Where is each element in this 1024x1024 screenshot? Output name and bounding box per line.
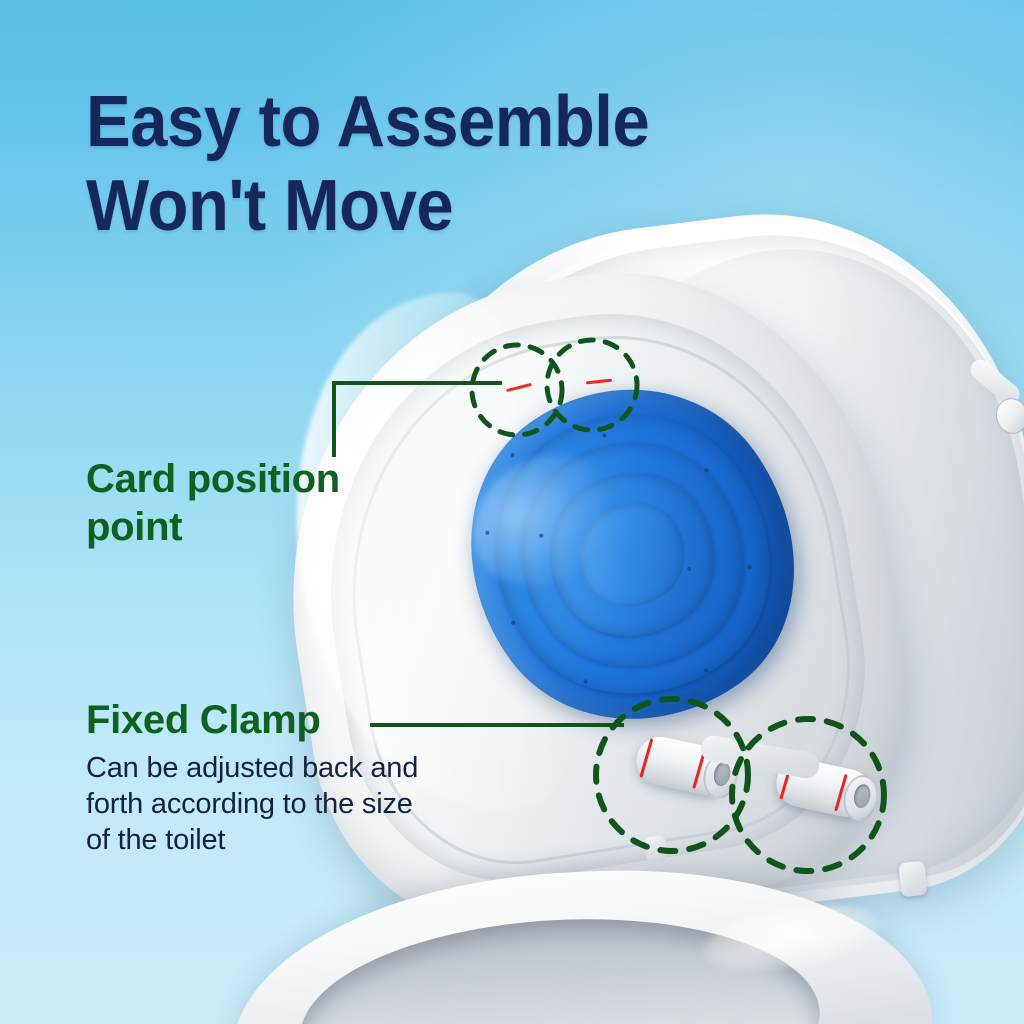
- callout-card-position-point: Card position point: [86, 455, 416, 551]
- headline-line-1: Easy to Assemble: [86, 82, 649, 162]
- callout-fixed-clamp: Fixed Clamp Can be adjusted back and for…: [86, 696, 486, 858]
- headline-line-2: Won't Move: [86, 164, 858, 248]
- callout-fixed-clamp-title: Fixed Clamp: [86, 696, 486, 744]
- seat-bumper-right: [898, 861, 927, 898]
- seat-bumper-center: [645, 835, 668, 863]
- product-infographic: Easy to Assemble Won't Move Card positio…: [0, 0, 1024, 1024]
- page-title: Easy to Assemble Won't Move: [86, 80, 858, 248]
- callout-card-position-title: Card position point: [86, 455, 416, 551]
- callout-fixed-clamp-body: Can be adjusted back and forth according…: [86, 750, 486, 858]
- clamp-stripe: [639, 738, 653, 777]
